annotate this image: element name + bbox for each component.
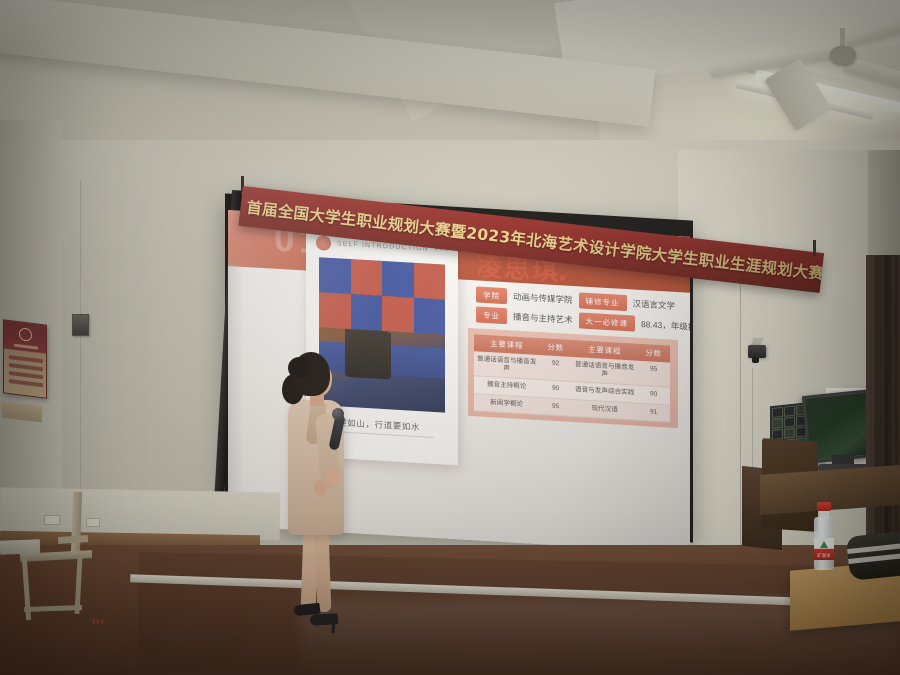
table-cell: 普通话语音与播音发声 [474, 351, 539, 379]
banner-hook [813, 240, 816, 256]
field-value-major: 播音与主持艺术 [513, 311, 573, 326]
backpack [846, 531, 900, 581]
table-cell: 91 [637, 403, 670, 421]
ceiling-fan [760, 20, 900, 90]
window-curtain [866, 255, 900, 555]
table-cell: 新闻学概论 [474, 394, 539, 414]
floor-marking-text: ▮▮▮ [92, 618, 114, 644]
camera-lens-icon [752, 357, 759, 363]
water-bottle: 矿泉水 [812, 502, 836, 570]
field-tag-college: 学院 [476, 286, 507, 304]
bottle-label-text: 矿泉水 [815, 553, 833, 559]
presenter-hair-bun [288, 357, 310, 379]
field-tag-required-course: 大一必修课 [579, 312, 636, 331]
wall-plaque [3, 319, 47, 398]
table-header-cell: 分数 [539, 338, 572, 357]
fan-hub [830, 46, 856, 64]
table-cell: 92 [539, 355, 572, 381]
power-outlet [86, 518, 100, 527]
table-header-cell: 分数 [637, 344, 670, 363]
presenter-hand [314, 480, 327, 496]
slide-edge-shading [228, 262, 244, 527]
bag-stripe [848, 553, 900, 564]
presenter [274, 352, 364, 642]
microphone-head-icon [332, 408, 344, 420]
table-cell: 95 [539, 398, 572, 416]
field-value-required-course: 88.43，年级排名No.2 [641, 318, 690, 335]
courses-table: 主要课程 分数 主要课程 分数 普通话语音与播音发声 92 普通话语音与播音发声… [474, 334, 670, 422]
bag-stripe [847, 543, 900, 554]
shoe-heel [332, 620, 336, 633]
field-tag-major: 专业 [476, 306, 507, 324]
lecture-hall-photo: 01 自我认知 SELF INTRODUCTION [0, 0, 900, 675]
emblem-icon [19, 327, 32, 342]
bottle-cap [817, 502, 831, 511]
wall-seam [740, 250, 741, 590]
table-cell: 普通话语音与播音发声 [572, 357, 637, 385]
presenter-leg [315, 532, 332, 612]
table-cell: 95 [637, 361, 670, 387]
table-cell: 90 [637, 386, 670, 404]
field-value-college: 动画与传媒学院 [513, 291, 573, 306]
table-cell: 现代汉语 [572, 400, 637, 420]
wall-speaker-box [72, 314, 89, 336]
seal-icon [316, 235, 331, 251]
field-value-minor: 汉语言文学 [633, 297, 676, 311]
leaf-icon [820, 541, 828, 548]
table-cell: 90 [539, 381, 572, 399]
field-tag-minor: 辅修专业 [579, 292, 627, 311]
presenter-hand [326, 470, 340, 486]
plaque-subtitle [14, 344, 38, 350]
name-accent-dot [560, 275, 565, 280]
power-outlet [44, 515, 60, 525]
photo-mosaic-overlay [319, 257, 445, 334]
bottle-neck [819, 510, 829, 518]
plaque-text-lines [9, 355, 43, 393]
